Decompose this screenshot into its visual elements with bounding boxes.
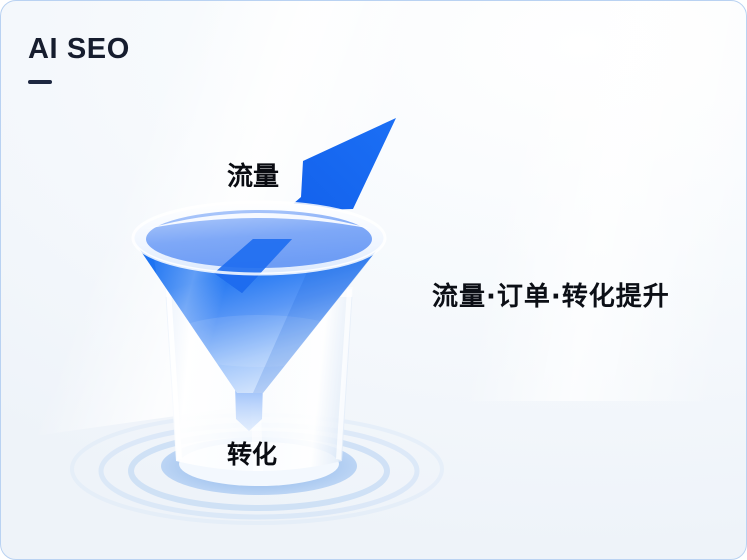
label-conversion: 转化 xyxy=(227,435,277,471)
illustration-card: AI SEO 流量·订单·转化提升 xyxy=(0,0,747,560)
funnel-illustration: 流量 转化 xyxy=(1,1,471,560)
label-traffic: 流量 xyxy=(227,156,279,193)
